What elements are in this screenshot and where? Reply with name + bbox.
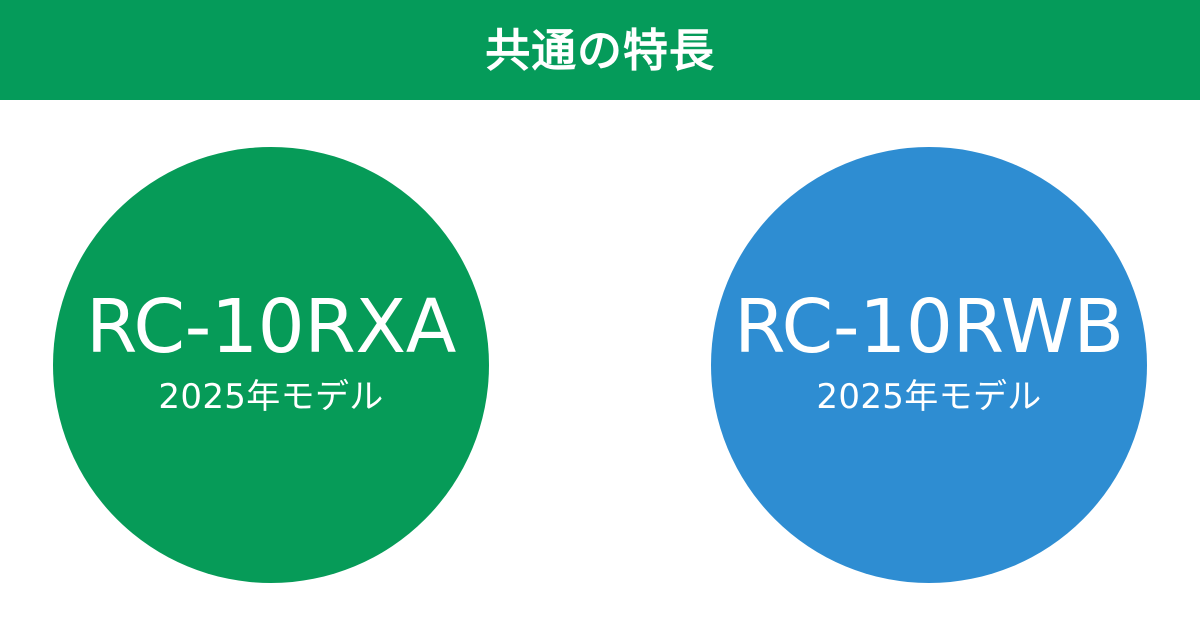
product-circle-content: RC-10RXA 2025年モデル [53,290,489,417]
product-circle-rc-10rwb: RC-10RWB 2025年モデル [711,147,1147,583]
product-circle-content: RC-10RWB 2025年モデル [711,290,1147,417]
product-model-name: RC-10RXA [86,290,456,365]
product-circle-rc-10rxa: RC-10RXA 2025年モデル [53,147,489,583]
product-model-year: 2025年モデル [158,379,383,416]
product-model-year: 2025年モデル [816,379,1041,416]
feature-banner-page: 共通の特長 RC-10RXA 2025年モデル RC-10RWB 2025年モデ… [0,0,1200,630]
product-model-name: RC-10RWB [734,290,1124,365]
header-banner: 共通の特長 [0,0,1200,100]
product-circles-area: RC-10RXA 2025年モデル RC-10RWB 2025年モデル [0,100,1200,630]
page-title: 共通の特長 [485,28,715,73]
